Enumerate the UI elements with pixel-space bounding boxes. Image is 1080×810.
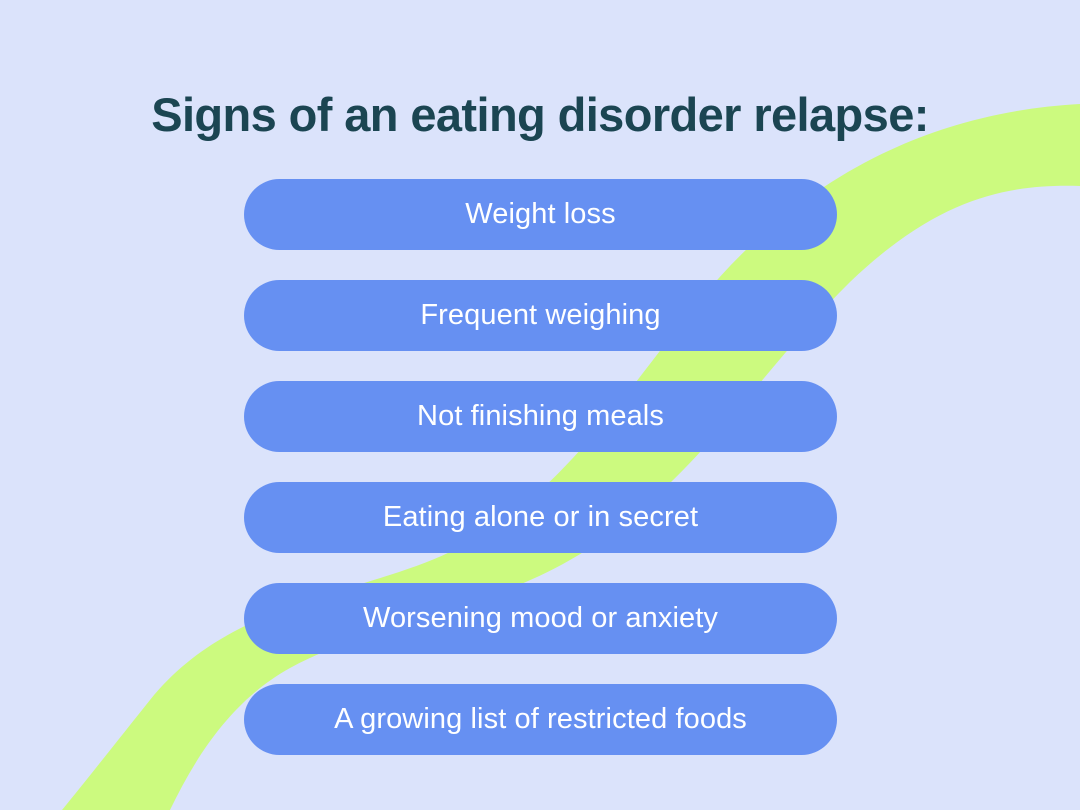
sign-label: Worsening mood or anxiety	[363, 604, 718, 633]
infographic-canvas: Signs of an eating disorder relapse: Wei…	[0, 0, 1080, 810]
sign-pill-eating-alone-or-in-secret[interactable]: Eating alone or in secret	[244, 482, 837, 553]
content-layer: Signs of an eating disorder relapse: Wei…	[0, 0, 1080, 810]
sign-label: Not finishing meals	[417, 402, 664, 431]
sign-pill-frequent-weighing[interactable]: Frequent weighing	[244, 280, 837, 351]
sign-pill-restricted-foods[interactable]: A growing list of restricted foods	[244, 684, 837, 755]
sign-label: Frequent weighing	[420, 301, 660, 330]
sign-label: Weight loss	[465, 200, 615, 229]
sign-pill-weight-loss[interactable]: Weight loss	[244, 179, 837, 250]
sign-pill-not-finishing-meals[interactable]: Not finishing meals	[244, 381, 837, 452]
sign-pill-worsening-mood-or-anxiety[interactable]: Worsening mood or anxiety	[244, 583, 837, 654]
sign-label: Eating alone or in secret	[383, 503, 698, 532]
sign-label: A growing list of restricted foods	[334, 705, 747, 734]
page-title: Signs of an eating disorder relapse:	[0, 87, 1080, 142]
signs-list: Weight loss Frequent weighing Not finish…	[244, 179, 837, 755]
